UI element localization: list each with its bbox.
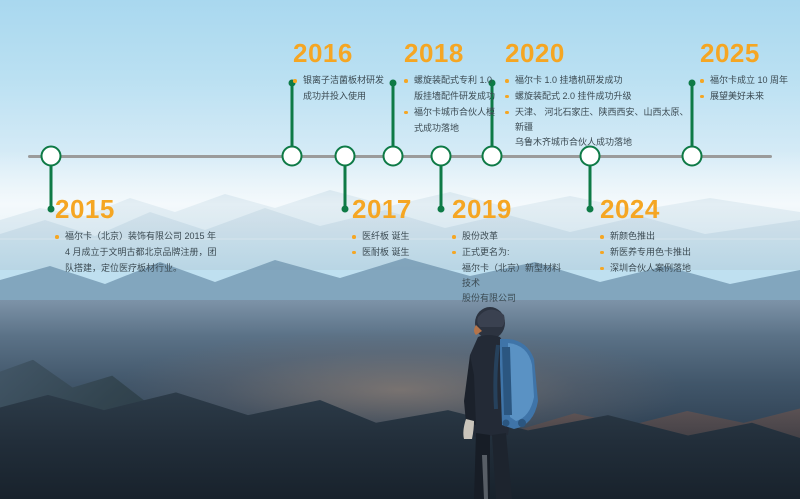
hiker-with-backpack-silhouette <box>430 305 580 499</box>
timeline-bullet-item: 股份有限公司 <box>452 291 562 306</box>
timeline-node-2020[interactable] <box>482 146 503 167</box>
timeline-year-label: 2017 <box>352 196 452 222</box>
timeline-bullet-list: 医纤板 诞生医耐板 诞生 <box>352 229 452 260</box>
timeline-bullet-item: 正式更名为: <box>452 245 562 260</box>
timeline-bullet-item: 福尔卡城市合伙人模 <box>404 105 504 120</box>
timeline-bullet-item: 银离子洁菌板材研发 <box>293 73 398 88</box>
timeline-stem-tip-2015 <box>48 206 55 213</box>
timeline-bullet-item: 医纤板 诞生 <box>352 229 452 244</box>
timeline-bullet-list: 福尔卡（北京）装饰有限公司 2015 年4 月成立于文明古都北京品牌注册，团队搭… <box>55 229 230 276</box>
timeline-node-2016[interactable] <box>282 146 303 167</box>
timeline-bullet-item: 队搭建，定位医疗板材行业。 <box>55 261 230 276</box>
timeline-bullet-item: 股份改革 <box>452 229 562 244</box>
timeline-bullet-item: 福尔卡（北京）装饰有限公司 2015 年 <box>55 229 230 244</box>
timeline-bullet-item: 天津、 河北石家庄、陕西西安、山西太原、新疆 <box>505 105 690 135</box>
timeline-node-2019[interactable] <box>431 146 452 167</box>
timeline-year-label: 2018 <box>404 40 504 66</box>
timeline-bullet-item: 成功并投入使用 <box>293 89 398 104</box>
timeline-bullet-item: 医耐板 诞生 <box>352 245 452 260</box>
timeline-entry-2019[interactable]: 2019股份改革正式更名为:福尔卡（北京）新型材料技术股份有限公司 <box>452 196 562 307</box>
timeline-year-label: 2016 <box>293 40 398 66</box>
timeline-entry-2016[interactable]: 2016银离子洁菌板材研发成功并投入使用 <box>293 40 398 105</box>
timeline-year-label: 2025 <box>700 40 800 66</box>
timeline-bullet-list: 福尔卡成立 10 周年展望美好未来 <box>700 73 800 104</box>
timeline-node-2017[interactable] <box>335 146 356 167</box>
timeline-year-label: 2019 <box>452 196 562 222</box>
timeline-bullet-item: 新医养专用色卡推出 <box>600 245 730 260</box>
timeline-bullet-item: 深圳合伙人案例落地 <box>600 261 730 276</box>
timeline-node-2018[interactable] <box>383 146 404 167</box>
timeline-bullet-list: 银离子洁菌板材研发成功并投入使用 <box>293 73 398 104</box>
timeline-year-label: 2015 <box>55 196 230 222</box>
timeline-bullet-item: 福尔卡成立 10 周年 <box>700 73 800 88</box>
timeline-bullet-list: 新颜色推出新医养专用色卡推出深圳合伙人案例落地 <box>600 229 730 276</box>
timeline-bullet-item: 4 月成立于文明古都北京品牌注册，团 <box>55 245 230 260</box>
timeline-bullet-list: 螺旋装配式专利 1.0版挂墙配件研发成功福尔卡城市合伙人模式成功落地 <box>404 73 504 135</box>
timeline-year-label: 2024 <box>600 196 730 222</box>
timeline-entry-2017[interactable]: 2017医纤板 诞生医耐板 诞生 <box>352 196 452 261</box>
timeline-stem-tip-2017 <box>342 206 349 213</box>
timeline-entry-2025[interactable]: 2025福尔卡成立 10 周年展望美好未来 <box>700 40 800 105</box>
timeline-entry-2020[interactable]: 2020福尔卡 1.0 挂墙机研发成功螺旋装配式 2.0 挂件成功升级天津、 河… <box>505 40 690 151</box>
timeline-bullet-item: 式成功落地 <box>404 121 504 136</box>
timeline-entry-2015[interactable]: 2015福尔卡（北京）装饰有限公司 2015 年4 月成立于文明古都北京品牌注册… <box>55 196 230 277</box>
timeline-entry-2024[interactable]: 2024新颜色推出新医养专用色卡推出深圳合伙人案例落地 <box>600 196 730 277</box>
timeline-bullet-item: 福尔卡 1.0 挂墙机研发成功 <box>505 73 690 88</box>
timeline-bullet-list: 股份改革正式更名为:福尔卡（北京）新型材料技术股份有限公司 <box>452 229 562 306</box>
timeline-bullet-item: 螺旋装配式 2.0 挂件成功升级 <box>505 89 690 104</box>
timeline-node-2015[interactable] <box>41 146 62 167</box>
timeline-bullet-list: 福尔卡 1.0 挂墙机研发成功螺旋装配式 2.0 挂件成功升级天津、 河北石家庄… <box>505 73 690 150</box>
timeline-bullet-item: 展望美好未来 <box>700 89 800 104</box>
timeline-bullet-item: 螺旋装配式专利 1.0 <box>404 73 504 88</box>
timeline-year-label: 2020 <box>505 40 690 66</box>
timeline-infographic: 2015福尔卡（北京）装饰有限公司 2015 年4 月成立于文明古都北京品牌注册… <box>0 0 800 499</box>
timeline-bullet-item: 乌鲁木齐城市合伙人成功落地 <box>505 135 690 150</box>
timeline-bullet-item: 版挂墙配件研发成功 <box>404 89 504 104</box>
timeline-stem-tip-2024 <box>587 206 594 213</box>
timeline-bullet-item: 新颜色推出 <box>600 229 730 244</box>
timeline-bullet-item: 福尔卡（北京）新型材料技术 <box>452 261 562 291</box>
timeline-entry-2018[interactable]: 2018螺旋装配式专利 1.0版挂墙配件研发成功福尔卡城市合伙人模式成功落地 <box>404 40 504 136</box>
